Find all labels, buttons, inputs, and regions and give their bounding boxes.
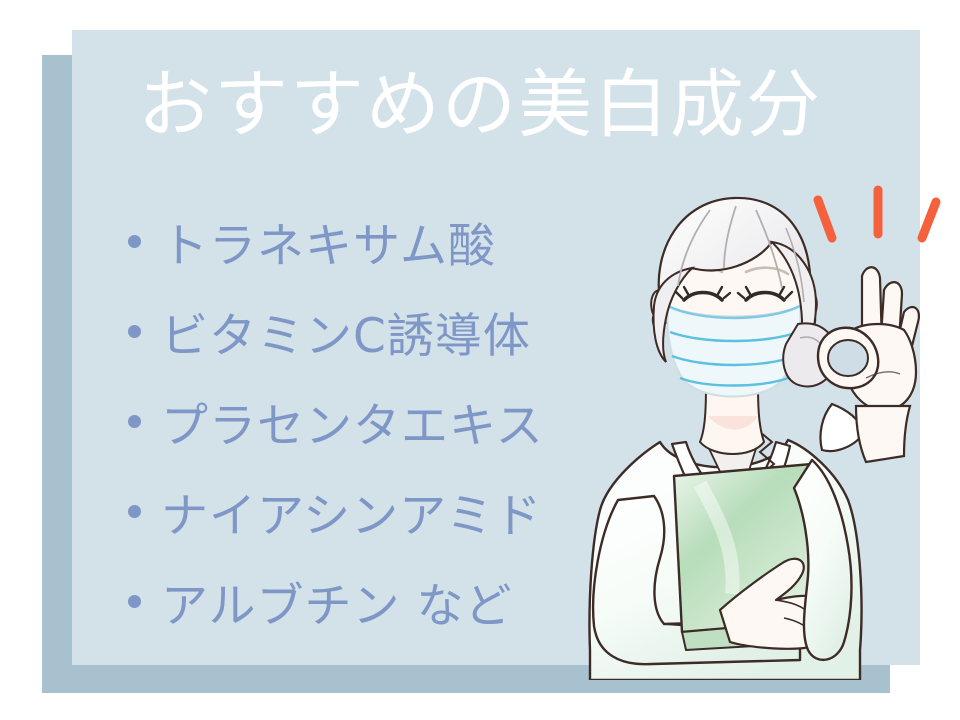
list-item: トラネキサム酸 — [128, 196, 544, 286]
list-item-label: ビタミンC誘導体 — [161, 297, 531, 366]
bullet-icon — [128, 235, 141, 248]
list-item-label: アルブチン など — [161, 567, 512, 636]
emphasis-marks-icon — [818, 190, 936, 238]
poster-canvas: おすすめの美白成分 トラネキサム酸 ビタミンC誘導体 プラセンタエキス ナイアシ… — [0, 0, 960, 720]
list-item-label: トラネキサム酸 — [161, 207, 496, 276]
woman-illustration — [560, 180, 960, 680]
list-item: ナイアシンアミド — [128, 466, 544, 556]
list-item-label: プラセンタエキス — [161, 387, 544, 456]
list-item: アルブチン など — [128, 556, 544, 646]
bullet-icon — [128, 505, 141, 518]
bullet-icon — [128, 325, 141, 338]
bullet-icon — [128, 595, 141, 608]
list-item: ビタミンC誘導体 — [128, 286, 544, 376]
list-item: プラセンタエキス — [128, 376, 544, 466]
ingredient-list: トラネキサム酸 ビタミンC誘導体 プラセンタエキス ナイアシンアミド アルブチン… — [128, 196, 544, 646]
page-title: おすすめの美白成分 — [138, 68, 822, 142]
bullet-icon — [128, 415, 141, 428]
list-item-label: ナイアシンアミド — [161, 477, 542, 546]
